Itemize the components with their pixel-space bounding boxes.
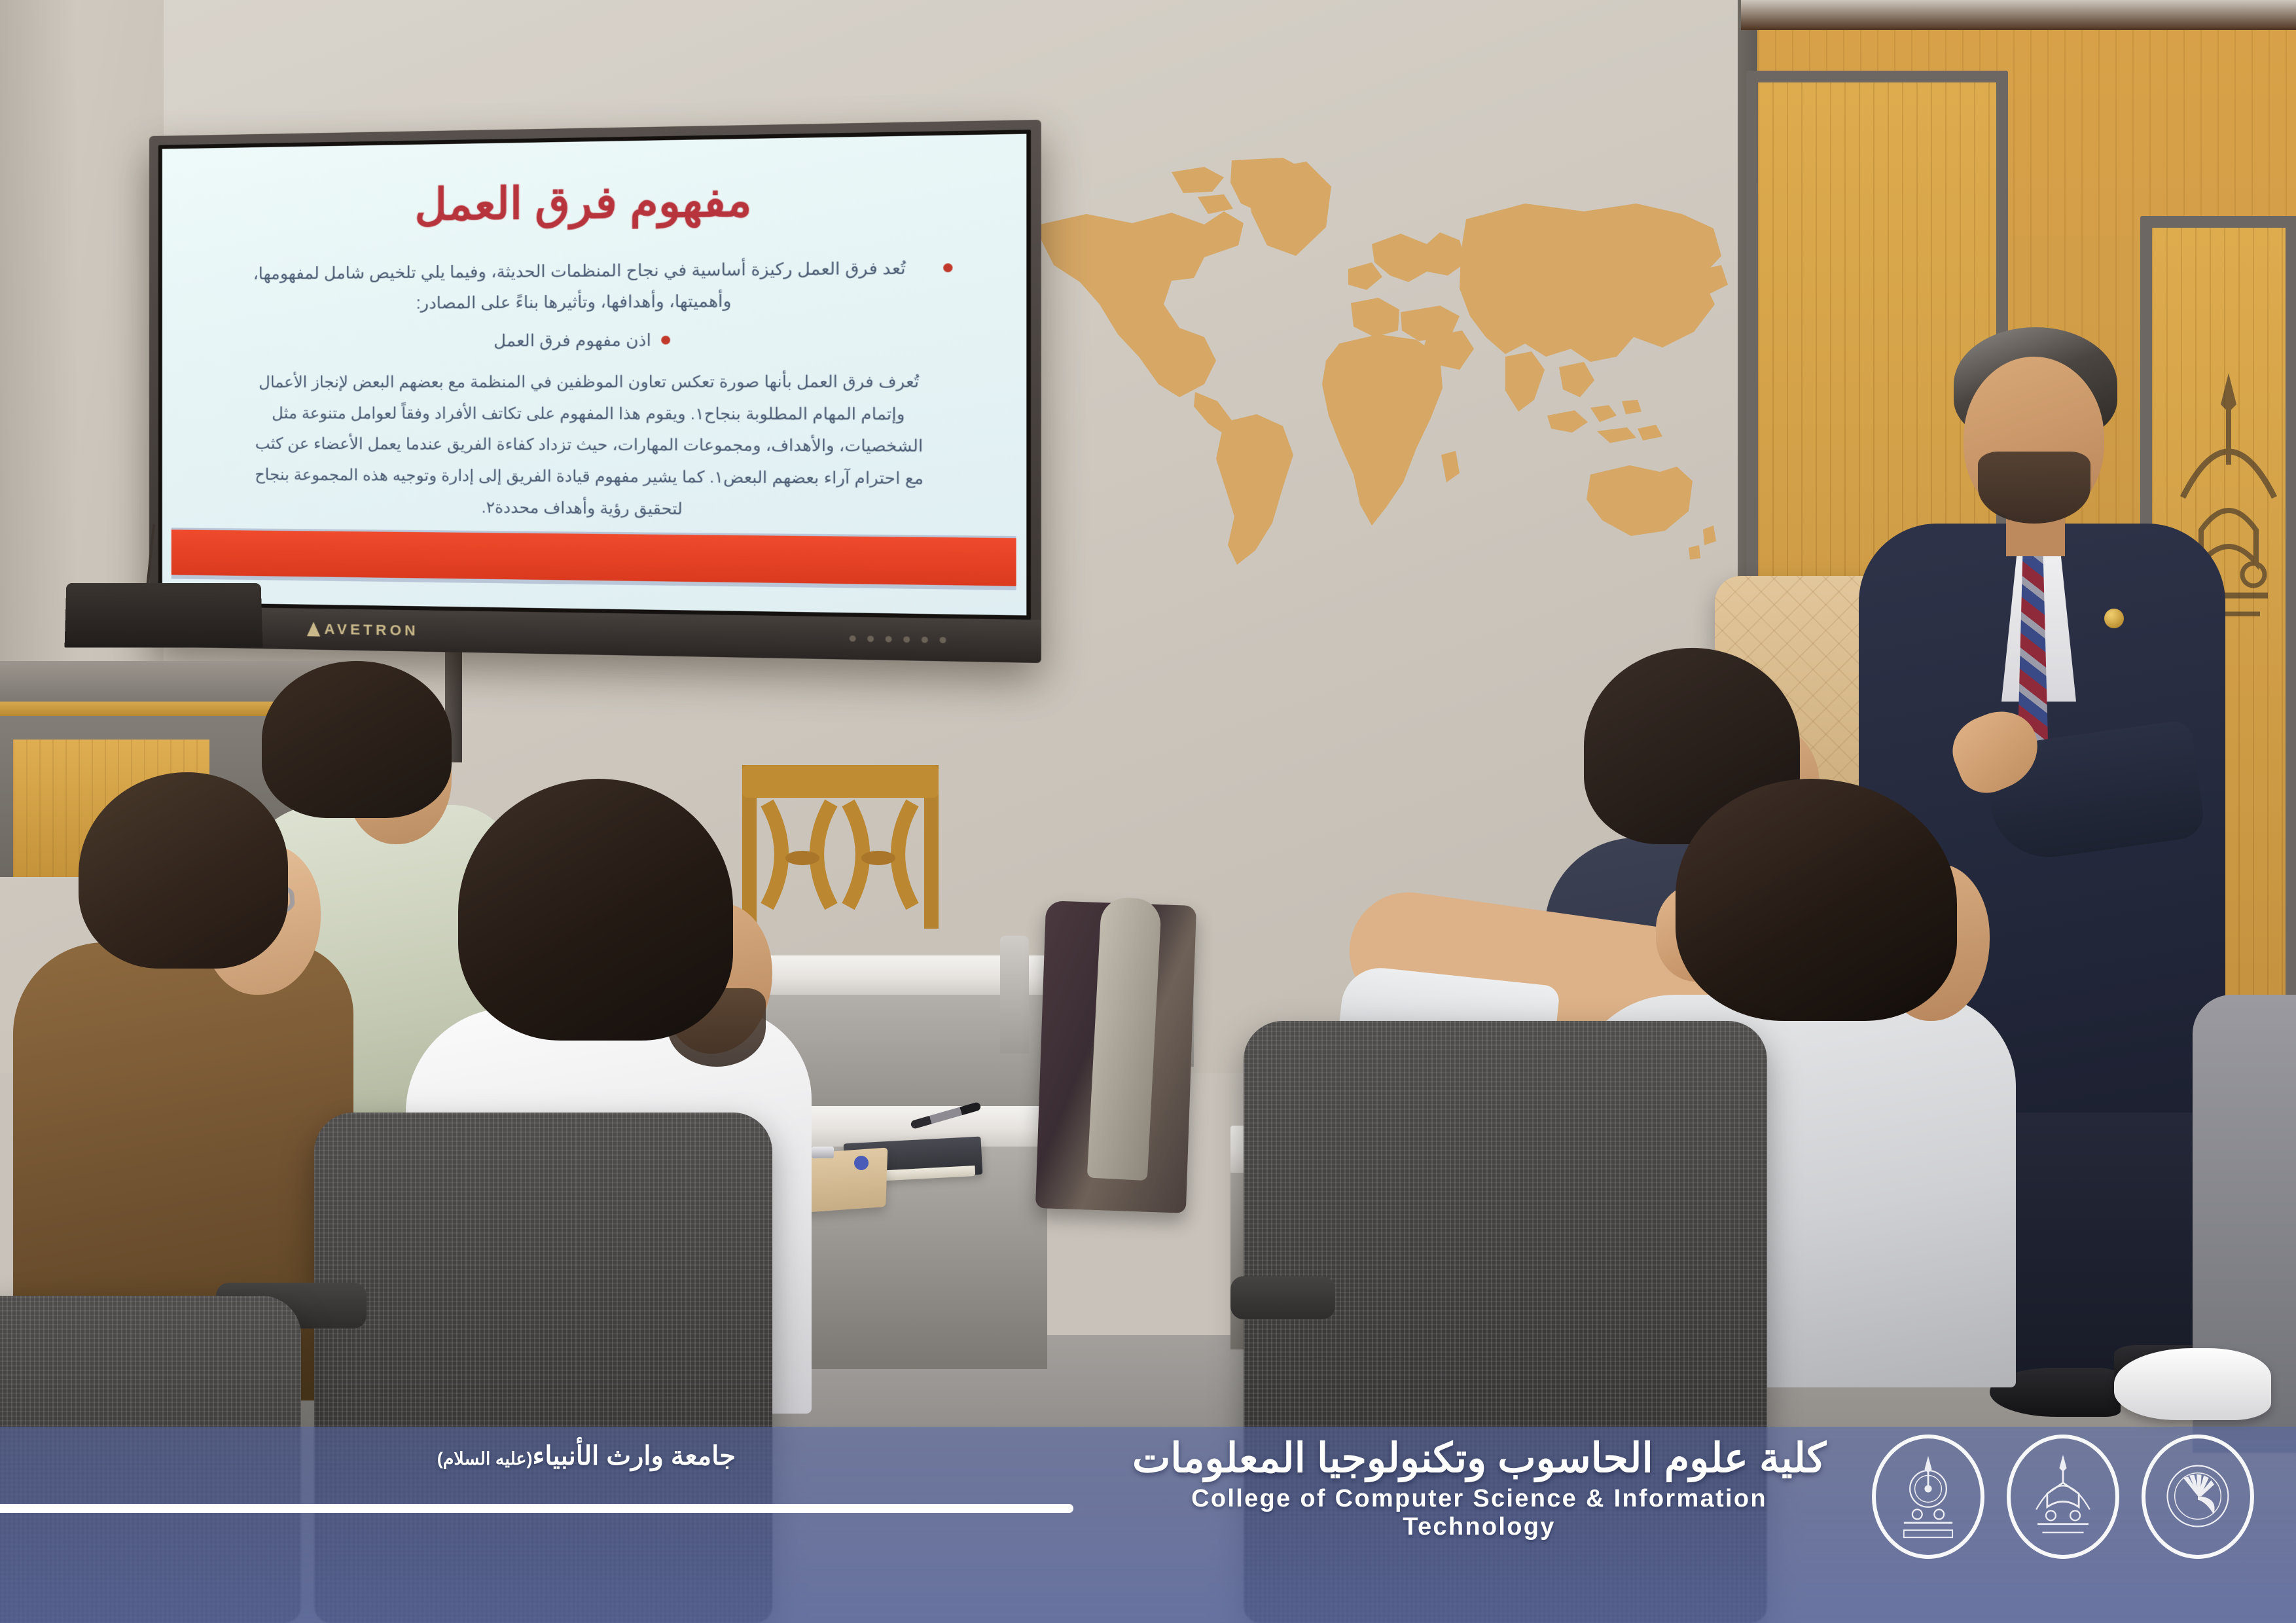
- slide-paragraph: تُعرف فرق العمل بأنها صورة تعكس تعاون ال…: [204, 362, 980, 528]
- slide-bullet-2: اذن مفهوم فرق العمل: [204, 323, 980, 357]
- standing-person-sneaker: [2114, 1348, 2271, 1420]
- status-led-dots: [850, 635, 946, 643]
- pen-silver[interactable]: [812, 1147, 834, 1158]
- slide-bullet-1: تُعد فرق العمل ركيزة أساسية في نجاح المن…: [204, 252, 980, 320]
- banner-logo-group: [1872, 1435, 2254, 1559]
- student-sage-hair: [262, 661, 452, 818]
- pen-blue[interactable]: [854, 1156, 869, 1170]
- laptop-on-lectern[interactable]: [65, 583, 263, 647]
- lecture-hall-scene: مفهوم فرق العمل تُعد فرق العمل ركيزة أسا…: [0, 0, 2296, 1623]
- bullet-dot-icon: [943, 263, 952, 272]
- bottom-brand-banner: جامعة وارث الأنبياء(عليه السلام) كلية عل…: [0, 1427, 2296, 1623]
- world-map-wall-decal: [1008, 141, 1748, 592]
- display-brand-text: AVETRON: [324, 620, 418, 639]
- avetron-triangle-logo: [307, 622, 320, 637]
- slide-title: مفهوم فرق العمل: [162, 170, 1026, 234]
- display-bezel: مفهوم فرق العمل تُعد فرق العمل ركيزة أسا…: [158, 130, 1031, 620]
- slide-bullet-2-text: اذن مفهوم فرق العمل: [493, 325, 651, 357]
- slide-bullet-1-text: تُعد فرق العمل ركيزة أساسية في نجاح المن…: [228, 253, 933, 320]
- desk-divider: [1000, 936, 1029, 1054]
- presenter-lapel-pin: [2104, 609, 2124, 628]
- wooden-lattice-chair[interactable]: [733, 743, 949, 939]
- college-name-block: كلية علوم الحاسوب وتكنولوجيا المعلومات C…: [1113, 1436, 1846, 1541]
- banner-divider-rule: [0, 1504, 1073, 1513]
- college-name-english: College of Computer Science & Informatio…: [1113, 1485, 1846, 1541]
- university-name-text: جامعة وارث الأنبياء: [533, 1442, 736, 1471]
- ceiling-trim: [1741, 0, 2296, 30]
- bullet-dot-icon: [661, 335, 670, 344]
- chair-armrest[interactable]: [1230, 1276, 1335, 1319]
- university-name-arabic: جامعة وارث الأنبياء(عليه السلام): [16, 1441, 736, 1471]
- student-brown-hair: [79, 772, 288, 969]
- ministry-of-higher-education-logo: [2142, 1435, 2254, 1559]
- smart-display[interactable]: مفهوم فرق العمل تُعد فرق العمل ركيزة أسا…: [149, 120, 1041, 663]
- presentation-slide: مفهوم فرق العمل تُعد فرق العمل ركيزة أسا…: [162, 134, 1026, 616]
- college-seal-logo: [1872, 1435, 1984, 1559]
- college-name-arabic: كلية علوم الحاسوب وتكنولوجيا المعلومات: [1113, 1436, 1846, 1481]
- university-seal-logo: [2007, 1435, 2119, 1559]
- display-brand: AVETRON: [307, 620, 419, 639]
- presenter-beard: [1978, 452, 2090, 524]
- university-name-honorific: (عليه السلام): [437, 1449, 533, 1469]
- student-center-hair: [458, 779, 733, 1041]
